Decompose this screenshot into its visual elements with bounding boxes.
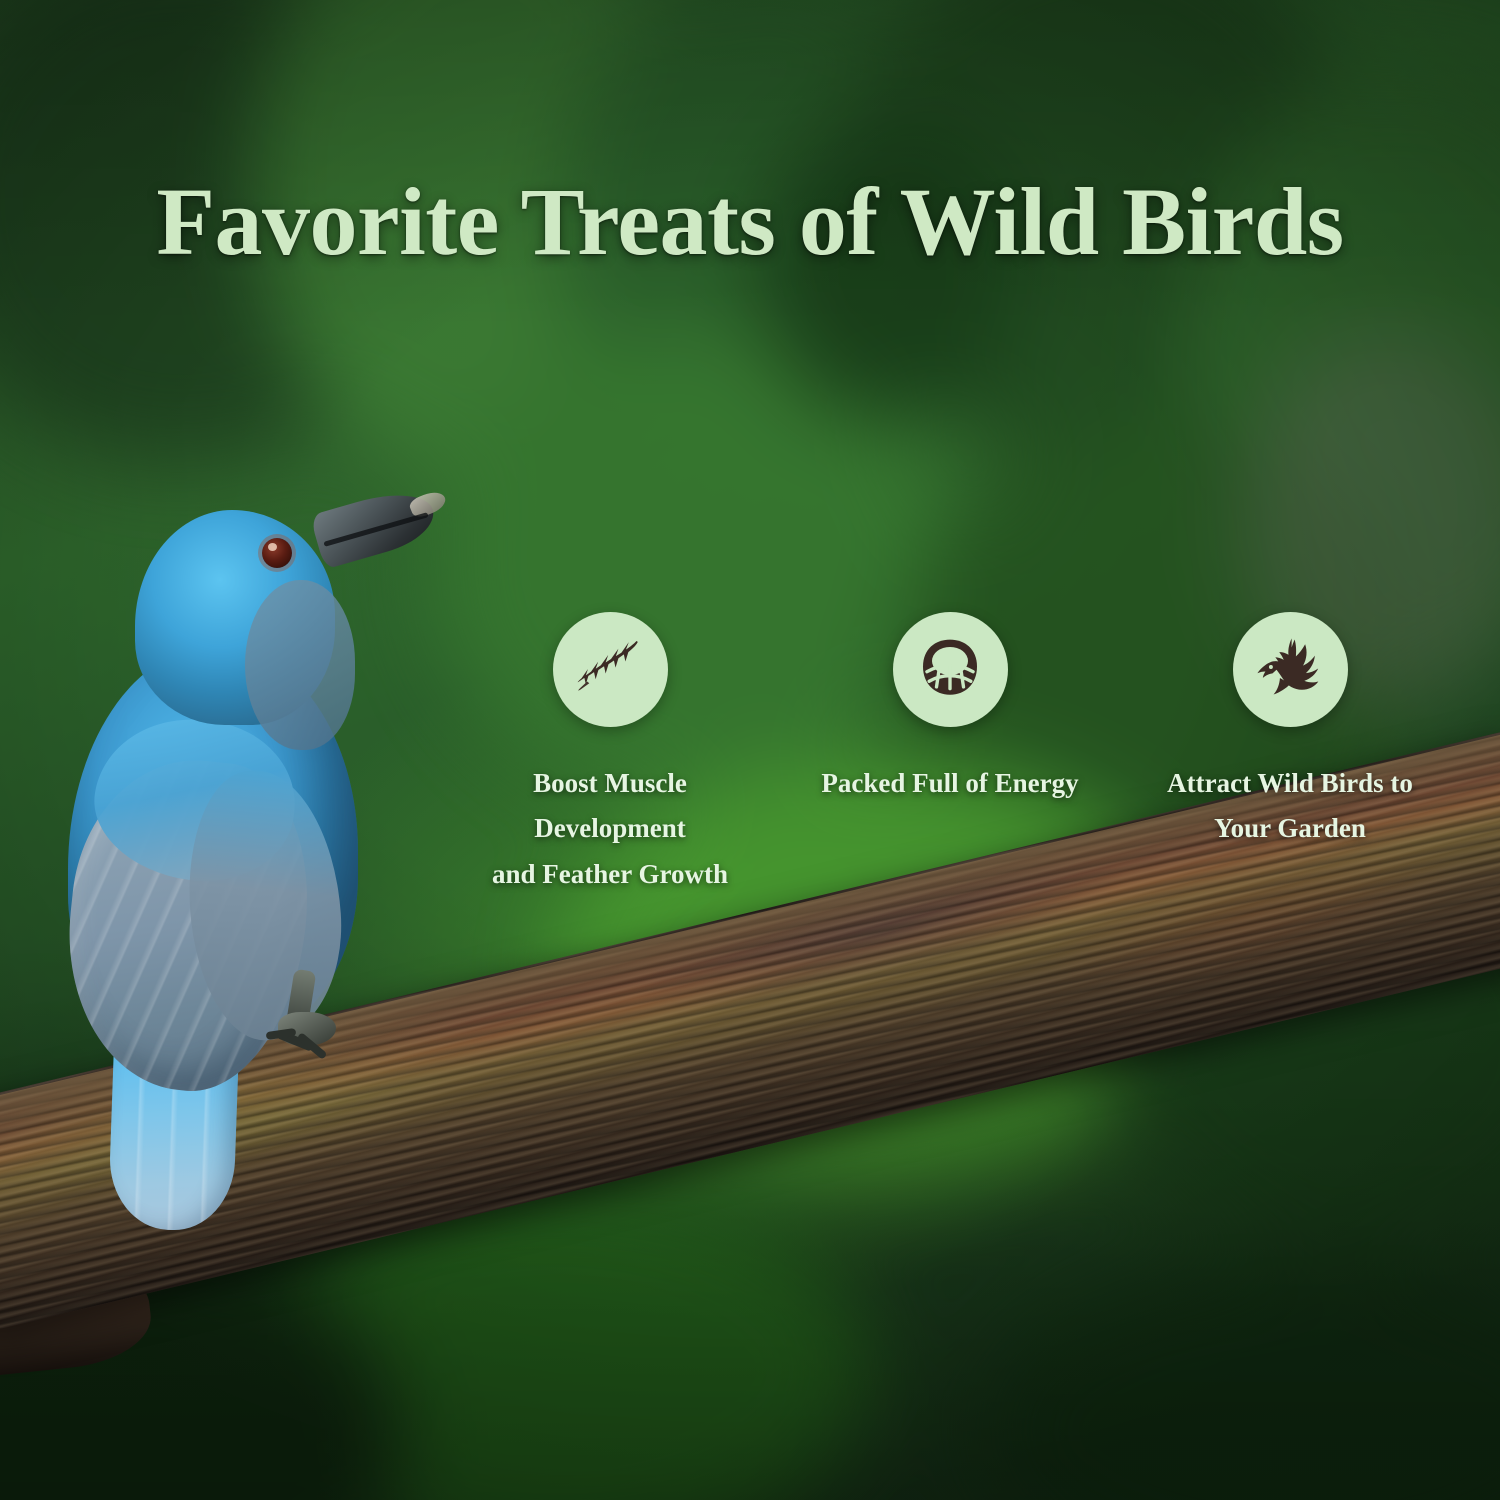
bluebird-photo	[40, 470, 460, 1230]
feature-label: Boost Muscle Development and Feather Gro…	[492, 761, 728, 897]
bird-claw	[266, 1028, 297, 1040]
bird-eye-glint	[268, 543, 277, 551]
feature-badge	[893, 612, 1008, 727]
flying-bird-icon	[1253, 633, 1327, 707]
bird-beak	[310, 483, 441, 570]
product-feature-banner: Favorite Treats of Wild Birds Boost Musc…	[0, 0, 1500, 1500]
bird-beak-tip	[408, 488, 449, 520]
feature-item-attract-birds: Attract Wild Birds to Your Garden	[1140, 612, 1440, 852]
bird-claw	[296, 1032, 327, 1060]
bird-eye	[262, 538, 292, 568]
bird-scapulars	[181, 765, 349, 1045]
branch-stub	[0, 1249, 155, 1380]
bird-wing-coverts	[85, 707, 305, 893]
feature-list: Boost Muscle Development and Feather Gro…	[460, 612, 1440, 897]
feature-label: Packed Full of Energy	[821, 761, 1078, 806]
tree-branch	[0, 960, 1500, 1500]
feature-item-muscle-development: Boost Muscle Development and Feather Gro…	[460, 612, 760, 897]
bird-claw	[276, 1029, 315, 1052]
page-title: Favorite Treats of Wild Birds	[0, 174, 1500, 270]
bird-beak-gape	[323, 512, 428, 547]
bird-body	[68, 645, 358, 1045]
bird-tail	[108, 973, 242, 1232]
feature-badge	[1233, 612, 1348, 727]
bird-head	[135, 510, 335, 725]
feature-label: Attract Wild Birds to Your Garden	[1167, 761, 1413, 852]
bird-nape	[245, 580, 355, 750]
bird-nest-icon	[914, 634, 986, 706]
bird-wing	[53, 749, 321, 1102]
bird-foot	[278, 1012, 336, 1046]
feature-badge	[553, 612, 668, 727]
bird-undertail-coverts	[85, 923, 274, 1098]
feather-icon	[574, 634, 646, 706]
feature-item-energy: Packed Full of Energy	[800, 612, 1100, 806]
bird-leg	[286, 969, 317, 1030]
